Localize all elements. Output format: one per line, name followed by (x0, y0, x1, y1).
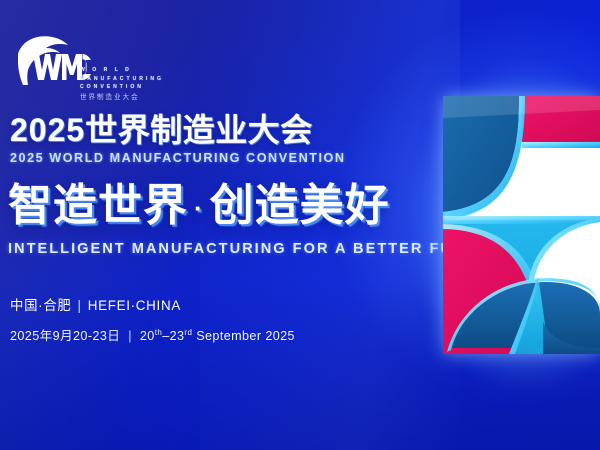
emblem-graphic-wrapper (443, 96, 600, 354)
poster-canvas: W O R L D MANUFACTURING CONVENTION 世界制造业… (0, 0, 600, 450)
logo-line-chinese: 世界制造业大会 (80, 93, 190, 103)
slogan-chinese-right: 创造美好 (210, 181, 390, 230)
slogan-separator-dot: · (188, 193, 210, 223)
wmc-geometric-emblem (443, 96, 600, 354)
title-chinese-rest: 世界制造业大会 (85, 112, 313, 148)
date-separator: | (120, 329, 140, 343)
date-english-suffix: September 2025 (192, 329, 295, 343)
wmc-logo: W O R L D MANUFACTURING CONVENTION 世界制造业… (8, 28, 188, 90)
emblem-svg (443, 96, 600, 354)
title-year: 2025 (10, 112, 85, 148)
location-chinese: 中国·合肥 (10, 298, 72, 313)
event-info-block: 中国·合肥|HEFEI·CHINA 2025年9月20-23日|20th–23r… (10, 296, 295, 345)
main-title-block: 2025世界制造业大会 2025 WORLD MANUFACTURING CON… (10, 112, 430, 165)
slogan-block: 智造世界·创造美好 INTELLIGENT MANUFACTURING FOR … (8, 180, 458, 257)
location-separator: | (72, 298, 88, 313)
slogan-chinese: 智造世界·创造美好 (8, 180, 458, 234)
logo-line-manufacturing: MANUFACTURING (80, 75, 190, 84)
date-chinese: 2025年9月20-23日 (10, 329, 120, 343)
logo-line-convention: CONVENTION (80, 83, 190, 92)
slogan-english: INTELLIGENT MANUFACTURING FOR A BETTER F… (8, 241, 458, 257)
main-title-chinese: 2025世界制造业大会 (10, 112, 430, 148)
date-english-prefix: 20 (140, 329, 155, 343)
logo-line-world: W O R L D (80, 66, 190, 75)
date-english-mid: –23 (162, 329, 184, 343)
location-english: HEFEI·CHINA (88, 298, 181, 313)
slogan-chinese-left: 智造世界 (8, 181, 188, 230)
logo-wordmark-lines: W O R L D MANUFACTURING CONVENTION 世界制造业… (80, 66, 190, 103)
event-location: 中国·合肥|HEFEI·CHINA (10, 296, 295, 316)
event-date: 2025年9月20-23日|20th–23rd September 2025 (10, 324, 295, 345)
main-title-english: 2025 WORLD MANUFACTURING CONVENTION (10, 151, 430, 165)
